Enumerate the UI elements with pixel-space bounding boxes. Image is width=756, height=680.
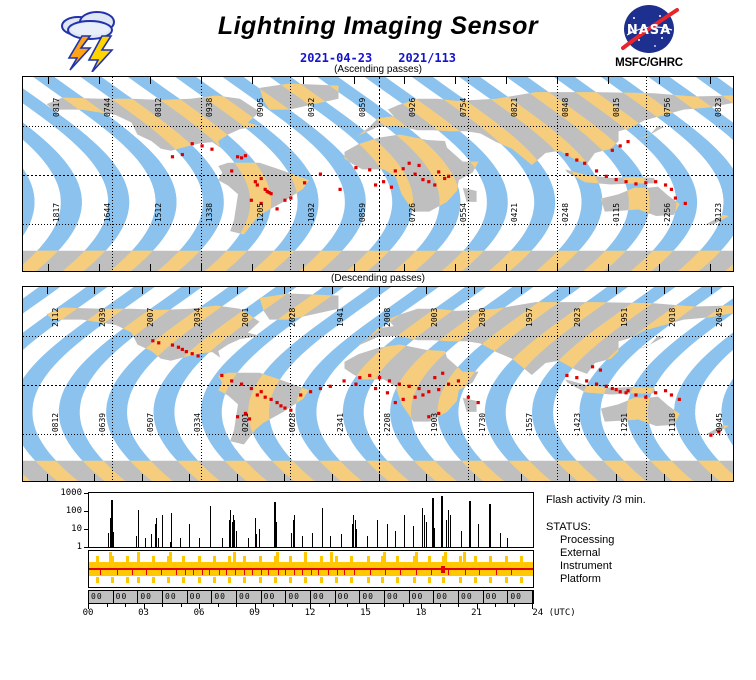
orbit-tick	[47, 474, 48, 481]
chart-legend: Flash activity /3 min. STATUS: Processin…	[546, 494, 756, 586]
status-stub-lower	[289, 577, 292, 583]
orbit-time-label: 0823	[714, 98, 723, 117]
time-tick	[125, 604, 126, 607]
orbit-time-label: -1903	[430, 413, 439, 437]
orbit-time-label: -0812	[51, 413, 60, 437]
orbit-tick	[711, 474, 712, 481]
orbit-time-label: -1338	[205, 203, 214, 227]
status-stub-lower	[126, 577, 129, 583]
status-alert-mark	[235, 570, 236, 575]
orbit-tick	[404, 77, 405, 84]
orbit-time-label: 2018	[668, 308, 677, 327]
flash-activity-bar	[248, 538, 249, 547]
orbit-time-label: 1941	[336, 308, 345, 327]
flash-activity-bar	[489, 504, 491, 547]
status-alert-mark	[302, 570, 303, 575]
status-alert-mark	[285, 570, 286, 575]
status-alert-mark	[294, 570, 295, 575]
orbit-tick	[710, 264, 711, 271]
flash-activity-plot[interactable]	[88, 492, 534, 548]
flash-activity-bar	[276, 522, 277, 547]
orbit-tick	[354, 77, 355, 84]
status-stub-lower	[428, 577, 431, 583]
orbit-time-label: 0744	[103, 98, 112, 117]
timeline-cell[interactable]: 00	[138, 591, 163, 603]
time-tick	[458, 604, 459, 607]
orbit-time-label: 2023	[573, 308, 582, 327]
orbit-tick	[569, 287, 570, 294]
orbit-time-label: -0334	[193, 413, 202, 437]
time-tick	[162, 604, 163, 607]
orbit-time-label: 0815	[612, 98, 621, 117]
timeline-cell[interactable]: 00	[212, 591, 237, 603]
status-stub-lower	[505, 577, 508, 583]
time-tick	[347, 604, 348, 607]
time-axis-label: 00	[83, 608, 94, 618]
orbit-time-label: -1423	[573, 413, 582, 437]
orbit-tick	[94, 287, 95, 294]
orbit-time-label: -1032	[307, 203, 316, 227]
orbit-time-label: -1557	[525, 413, 534, 437]
status-alert-mark	[400, 570, 401, 575]
status-alert-mark	[370, 570, 371, 575]
flash-activity-bar	[461, 531, 462, 547]
orbit-tick	[426, 287, 427, 294]
status-alert-mark	[117, 570, 118, 575]
time-axis-label: 09	[249, 608, 260, 618]
orbit-time-label: -1205	[256, 203, 265, 227]
status-stub-lower	[320, 577, 323, 583]
orbit-time-label: -0028	[288, 413, 297, 437]
orbit-time-label: 0848	[561, 98, 570, 117]
descending-caption: (Descending passes)	[0, 272, 756, 286]
status-alert-mark	[202, 570, 203, 575]
timeline-cell[interactable]: 00	[434, 591, 459, 603]
status-alert-mark	[278, 570, 279, 575]
svg-text:NASA: NASA	[627, 23, 671, 38]
orbit-time-label: 2030	[478, 308, 487, 327]
flash-activity-bar	[145, 538, 146, 547]
orbit-time-label: -2256	[663, 203, 672, 227]
orbit-time-label: 0821	[510, 98, 519, 117]
status-stub-lower	[137, 577, 140, 583]
orbit-tick	[189, 474, 190, 481]
flash-activity-bar	[113, 532, 114, 547]
orbit-tick	[237, 287, 238, 294]
timeline-cell[interactable]: 00	[163, 591, 188, 603]
timeline-cell[interactable]: 00	[336, 591, 361, 603]
status-legend-instrument: Instrument	[546, 560, 756, 573]
flash-activity-bar	[422, 508, 423, 547]
orbit-time-label: -1251	[620, 413, 629, 437]
flash-activity-bar	[259, 529, 260, 547]
timeline-bar[interactable]: 000000000000000000000000000000000000	[88, 590, 534, 604]
orbit-tick	[201, 264, 202, 271]
time-tick	[218, 604, 219, 607]
flash-activity-bar	[180, 538, 181, 547]
orbit-tick	[48, 264, 49, 271]
flash-activity-bars	[89, 493, 533, 547]
orbit-tick	[284, 474, 285, 481]
orbit-tick	[557, 77, 558, 84]
flash-activity-legend-label: Flash activity /3 min.	[546, 494, 756, 507]
orbit-tick	[379, 474, 380, 481]
orbit-time-label: -0248	[561, 203, 570, 227]
flash-activity-bar	[294, 515, 295, 547]
time-tick	[514, 604, 515, 607]
lightning-flash-layer	[23, 77, 733, 272]
status-alert-mark	[219, 570, 220, 575]
flash-activity-bar	[138, 510, 139, 547]
orbit-tick	[379, 287, 380, 294]
orbit-tick	[142, 474, 143, 481]
orbit-time-label: 0817	[52, 98, 61, 117]
orbit-time-label: -0639	[98, 413, 107, 437]
activity-panel: 1000100101 00000000000000000000000000000…	[22, 488, 734, 606]
y-axis-label: 1	[40, 542, 82, 552]
status-stub-lower	[111, 577, 114, 583]
flash-activity-bar	[404, 515, 405, 547]
time-tick	[384, 604, 385, 607]
orbit-tick	[616, 474, 617, 481]
status-legend-title: STATUS:	[546, 521, 756, 534]
flash-activity-bar	[356, 529, 357, 547]
orbit-tick	[569, 474, 570, 481]
status-stub-lower	[96, 577, 99, 583]
orbit-tick	[332, 287, 333, 294]
status-alert-mark	[496, 570, 497, 575]
orbit-time-label: 2045	[715, 308, 724, 327]
orbit-time-label: -1817	[52, 203, 61, 227]
status-legend-external: External	[546, 547, 756, 560]
orbit-time-label: -0201	[241, 413, 250, 437]
page-header: Lightning Imaging Sensor 2021-04-23 2021…	[0, 0, 756, 76]
orbit-tick	[47, 287, 48, 294]
orbit-time-label: 0938	[205, 98, 214, 117]
time-tick	[329, 604, 330, 607]
orbit-time-label: -0421	[510, 203, 519, 227]
orbit-tick	[506, 264, 507, 271]
orbit-tick	[303, 264, 304, 271]
nasa-logo: NASA MSFC/GHRC	[594, 4, 704, 69]
orbit-tick	[237, 474, 238, 481]
status-alert-mark	[354, 570, 355, 575]
flash-activity-bar	[234, 520, 235, 547]
flash-activity-bar	[158, 538, 159, 547]
timeline-cell[interactable]: 00	[286, 591, 311, 603]
orbit-tick	[201, 77, 202, 84]
orbit-tick	[521, 474, 522, 481]
orbit-tick	[616, 287, 617, 294]
flash-activity-bar	[377, 520, 378, 547]
status-stub-lower	[304, 577, 307, 583]
flash-activity-bar	[478, 524, 479, 547]
orbit-tick	[99, 264, 100, 271]
orbit-tick	[252, 264, 253, 271]
status-alert-mark	[185, 570, 186, 575]
status-stub-lower	[442, 577, 445, 583]
orbit-tick	[48, 77, 49, 84]
orbit-tick	[284, 287, 285, 294]
orbit-tick	[506, 77, 507, 84]
timeline-cell[interactable]: 00	[385, 591, 410, 603]
orbit-tick	[659, 264, 660, 271]
status-alert-mark	[465, 570, 466, 575]
status-alert-mark	[244, 570, 245, 575]
status-legend-processing: Processing	[546, 534, 756, 547]
flash-activity-bar	[302, 536, 303, 547]
timeline-cell[interactable]: 00	[237, 591, 262, 603]
orbit-tick	[659, 77, 660, 84]
orbit-time-label: 0754	[459, 98, 468, 117]
status-stub-lower	[413, 577, 416, 583]
flash-activity-bar	[448, 510, 449, 547]
orbit-tick	[557, 264, 558, 271]
status-stub-lower	[213, 577, 216, 583]
orbit-time-label: 0812	[154, 98, 163, 117]
orbit-tick	[150, 264, 151, 271]
timeline-cell[interactable]: 00	[311, 591, 336, 603]
status-stub-lower	[520, 577, 523, 583]
flash-activity-bar	[395, 531, 396, 547]
status-alert-mark	[511, 570, 512, 575]
flash-activity-bar	[189, 524, 190, 547]
orbit-tick	[664, 287, 665, 294]
status-alert-mark	[344, 570, 345, 575]
orbit-tick	[455, 264, 456, 271]
orbit-tick	[142, 287, 143, 294]
time-tick	[236, 604, 237, 607]
orbit-time-label: 2028	[288, 308, 297, 327]
orbit-tick	[711, 287, 712, 294]
flash-activity-bar	[450, 515, 451, 547]
flash-activity-bar	[256, 534, 257, 547]
timeline-cell[interactable]: 00	[484, 591, 509, 603]
orbit-time-label: 0932	[307, 98, 316, 117]
time-tick	[181, 604, 182, 607]
status-stub-lower	[243, 577, 246, 583]
status-alert-mark	[416, 570, 417, 575]
orbit-tick	[150, 77, 151, 84]
time-axis-label: 21	[471, 608, 482, 618]
timeline-cell[interactable]: 00	[508, 591, 533, 603]
status-alert-mark	[318, 570, 319, 575]
status-stub-lower	[367, 577, 370, 583]
flash-activity-bar	[162, 515, 163, 547]
status-stub-lower	[335, 577, 338, 583]
flash-activity-bar	[322, 508, 323, 547]
nasa-center-label: MSFC/GHRC	[594, 57, 704, 69]
date-value: 2021-04-23	[300, 51, 372, 65]
status-alert-mark	[132, 570, 133, 575]
orbit-tick	[455, 77, 456, 84]
status-alert-mark	[311, 570, 312, 575]
y-axis-label: 100	[40, 506, 82, 516]
orbit-tick	[426, 474, 427, 481]
status-alert-mark	[193, 570, 194, 575]
orbit-tick	[664, 474, 665, 481]
timeline-cell[interactable]: 00	[459, 591, 484, 603]
timeline-cell[interactable]: 00	[89, 591, 114, 603]
orbit-time-label: 0756	[663, 98, 672, 117]
status-stub-lower	[274, 577, 277, 583]
time-tick	[292, 604, 293, 607]
orbit-tick	[303, 77, 304, 84]
y-axis-label: 10	[40, 524, 82, 534]
orbit-tick	[474, 287, 475, 294]
status-stub-lower	[396, 577, 399, 583]
orbit-time-label: 2001	[241, 308, 250, 327]
flash-activity-bar	[507, 538, 508, 547]
status-alert-mark	[226, 570, 227, 575]
orbit-tick	[332, 474, 333, 481]
flash-activity-bar	[312, 533, 313, 547]
orbit-time-label: 2039	[98, 308, 107, 327]
status-alert-mark	[328, 570, 329, 575]
flash-activity-bar	[387, 524, 388, 547]
flash-activity-bar	[341, 534, 342, 547]
orbit-time-label: -0859	[358, 203, 367, 227]
status-stub-lower	[167, 577, 170, 583]
ascending-map-panel: 0817074408120938090509320859092607540821…	[22, 76, 734, 272]
orbit-time-label: 0926	[408, 98, 417, 117]
orbit-tick	[189, 287, 190, 294]
status-alert-mark	[161, 570, 162, 575]
orbit-time-label: 1957	[525, 308, 534, 327]
orbit-time-label: -2123	[714, 203, 723, 227]
flash-activity-bar	[330, 536, 331, 547]
status-alert-mark	[100, 570, 101, 575]
time-tick	[107, 604, 108, 607]
flash-activity-bar	[434, 528, 435, 547]
time-axis-label: 15	[360, 608, 371, 618]
time-tick	[403, 604, 404, 607]
status-stub-lower	[459, 577, 462, 583]
time-axis-label: 18	[416, 608, 427, 618]
status-alert-mark	[261, 570, 262, 575]
status-stub-lower	[198, 577, 201, 583]
orbit-time-label: 0905	[256, 98, 265, 117]
flash-activity-bar	[500, 533, 501, 547]
orbit-time-label: -2341	[336, 413, 345, 437]
flash-activity-bar	[171, 513, 172, 547]
time-tick	[495, 604, 496, 607]
orbit-time-label: 2003	[430, 308, 439, 327]
orbit-time-label: -0945	[715, 413, 724, 437]
status-alert-mark	[431, 570, 432, 575]
status-alert-mark	[337, 570, 338, 575]
status-alert-mark	[479, 570, 480, 575]
orbit-tick	[404, 264, 405, 271]
orbit-time-label: -0115	[612, 203, 621, 227]
y-axis-label: 1000	[40, 488, 82, 498]
ascending-map[interactable]: 0817074408120938090509320859092607540821…	[22, 76, 734, 272]
flash-activity-bar	[426, 522, 427, 547]
status-alert-mark	[385, 570, 386, 575]
orbit-tick	[99, 77, 100, 84]
status-stub-lower	[489, 577, 492, 583]
time-axis-label: 12	[305, 608, 316, 618]
time-tick	[440, 604, 441, 607]
timeline-cell[interactable]: 00	[188, 591, 213, 603]
orbit-time-label: -0507	[146, 413, 155, 437]
status-stub-lower	[182, 577, 185, 583]
orbit-time-label: 1951	[620, 308, 629, 327]
descending-map[interactable]: 2112203920072034200120281941200820032030…	[22, 286, 734, 482]
status-legend-platform: Platform	[546, 573, 756, 586]
flash-activity-bar	[222, 538, 223, 547]
flash-activity-bar	[413, 526, 414, 547]
timeline-cell[interactable]: 00	[360, 591, 385, 603]
timeline-cell[interactable]: 00	[410, 591, 435, 603]
status-stub-lower	[152, 577, 155, 583]
orbit-time-label: 0859	[358, 98, 367, 117]
orbit-tick	[474, 474, 475, 481]
orbit-time-label: -1512	[154, 203, 163, 227]
orbit-time-label: -1644	[103, 203, 112, 227]
descending-map-panel: 2112203920072034200120281941200820032030…	[22, 286, 734, 482]
orbit-time-label: -1118	[668, 413, 677, 437]
time-axis-labels: 000306091215182124 (UTC)	[22, 608, 535, 620]
orbit-time-label: -2208	[383, 413, 392, 437]
orbit-tick	[521, 287, 522, 294]
nasa-meatball-icon: NASA	[614, 4, 684, 56]
status-stub-lower	[259, 577, 262, 583]
status-stub-lower	[350, 577, 353, 583]
status-alert-block	[441, 566, 445, 573]
status-stub-lower	[228, 577, 231, 583]
status-plot[interactable]	[88, 550, 534, 588]
status-alert-mark	[209, 570, 210, 575]
flash-activity-bar	[210, 506, 211, 547]
status-stub-lower	[474, 577, 477, 583]
status-stub-lower	[381, 577, 384, 583]
orbit-tick	[608, 77, 609, 84]
orbit-time-label: 2112	[51, 308, 60, 327]
flash-activity-bar	[469, 501, 471, 547]
orbit-time-label: -0554	[459, 203, 468, 227]
orbit-tick	[94, 474, 95, 481]
flash-activity-bar	[236, 531, 237, 547]
flash-activity-bar	[441, 496, 443, 547]
day-of-year-value: 2021/113	[398, 51, 456, 65]
time-axis-end-label: 24 (UTC)	[532, 608, 575, 618]
orbit-tick	[608, 264, 609, 271]
flash-activity-bar	[156, 518, 157, 547]
orbit-time-label: 2007	[146, 308, 155, 327]
status-alert-mark	[176, 570, 177, 575]
status-alert-mark	[268, 570, 269, 575]
orbit-tick	[710, 77, 711, 84]
flash-activity-bar	[367, 536, 368, 547]
timeline-cell[interactable]: 00	[114, 591, 139, 603]
orbit-tick	[354, 264, 355, 271]
orbit-tick	[252, 77, 253, 84]
flash-activity-bar	[199, 538, 200, 547]
time-axis-label: 03	[138, 608, 149, 618]
time-tick	[273, 604, 274, 607]
orbit-time-label: 2034	[193, 308, 202, 327]
status-alert-mark	[448, 570, 449, 575]
orbit-time-label: -0726	[408, 203, 417, 227]
orbit-time-label: -1730	[478, 413, 487, 437]
orbit-time-label: 2008	[383, 308, 392, 327]
timeline-cell[interactable]: 00	[262, 591, 287, 603]
time-axis-label: 06	[194, 608, 205, 618]
status-alert-mark	[146, 570, 147, 575]
flash-activity-bar	[151, 534, 152, 547]
status-alert-mark	[252, 570, 253, 575]
